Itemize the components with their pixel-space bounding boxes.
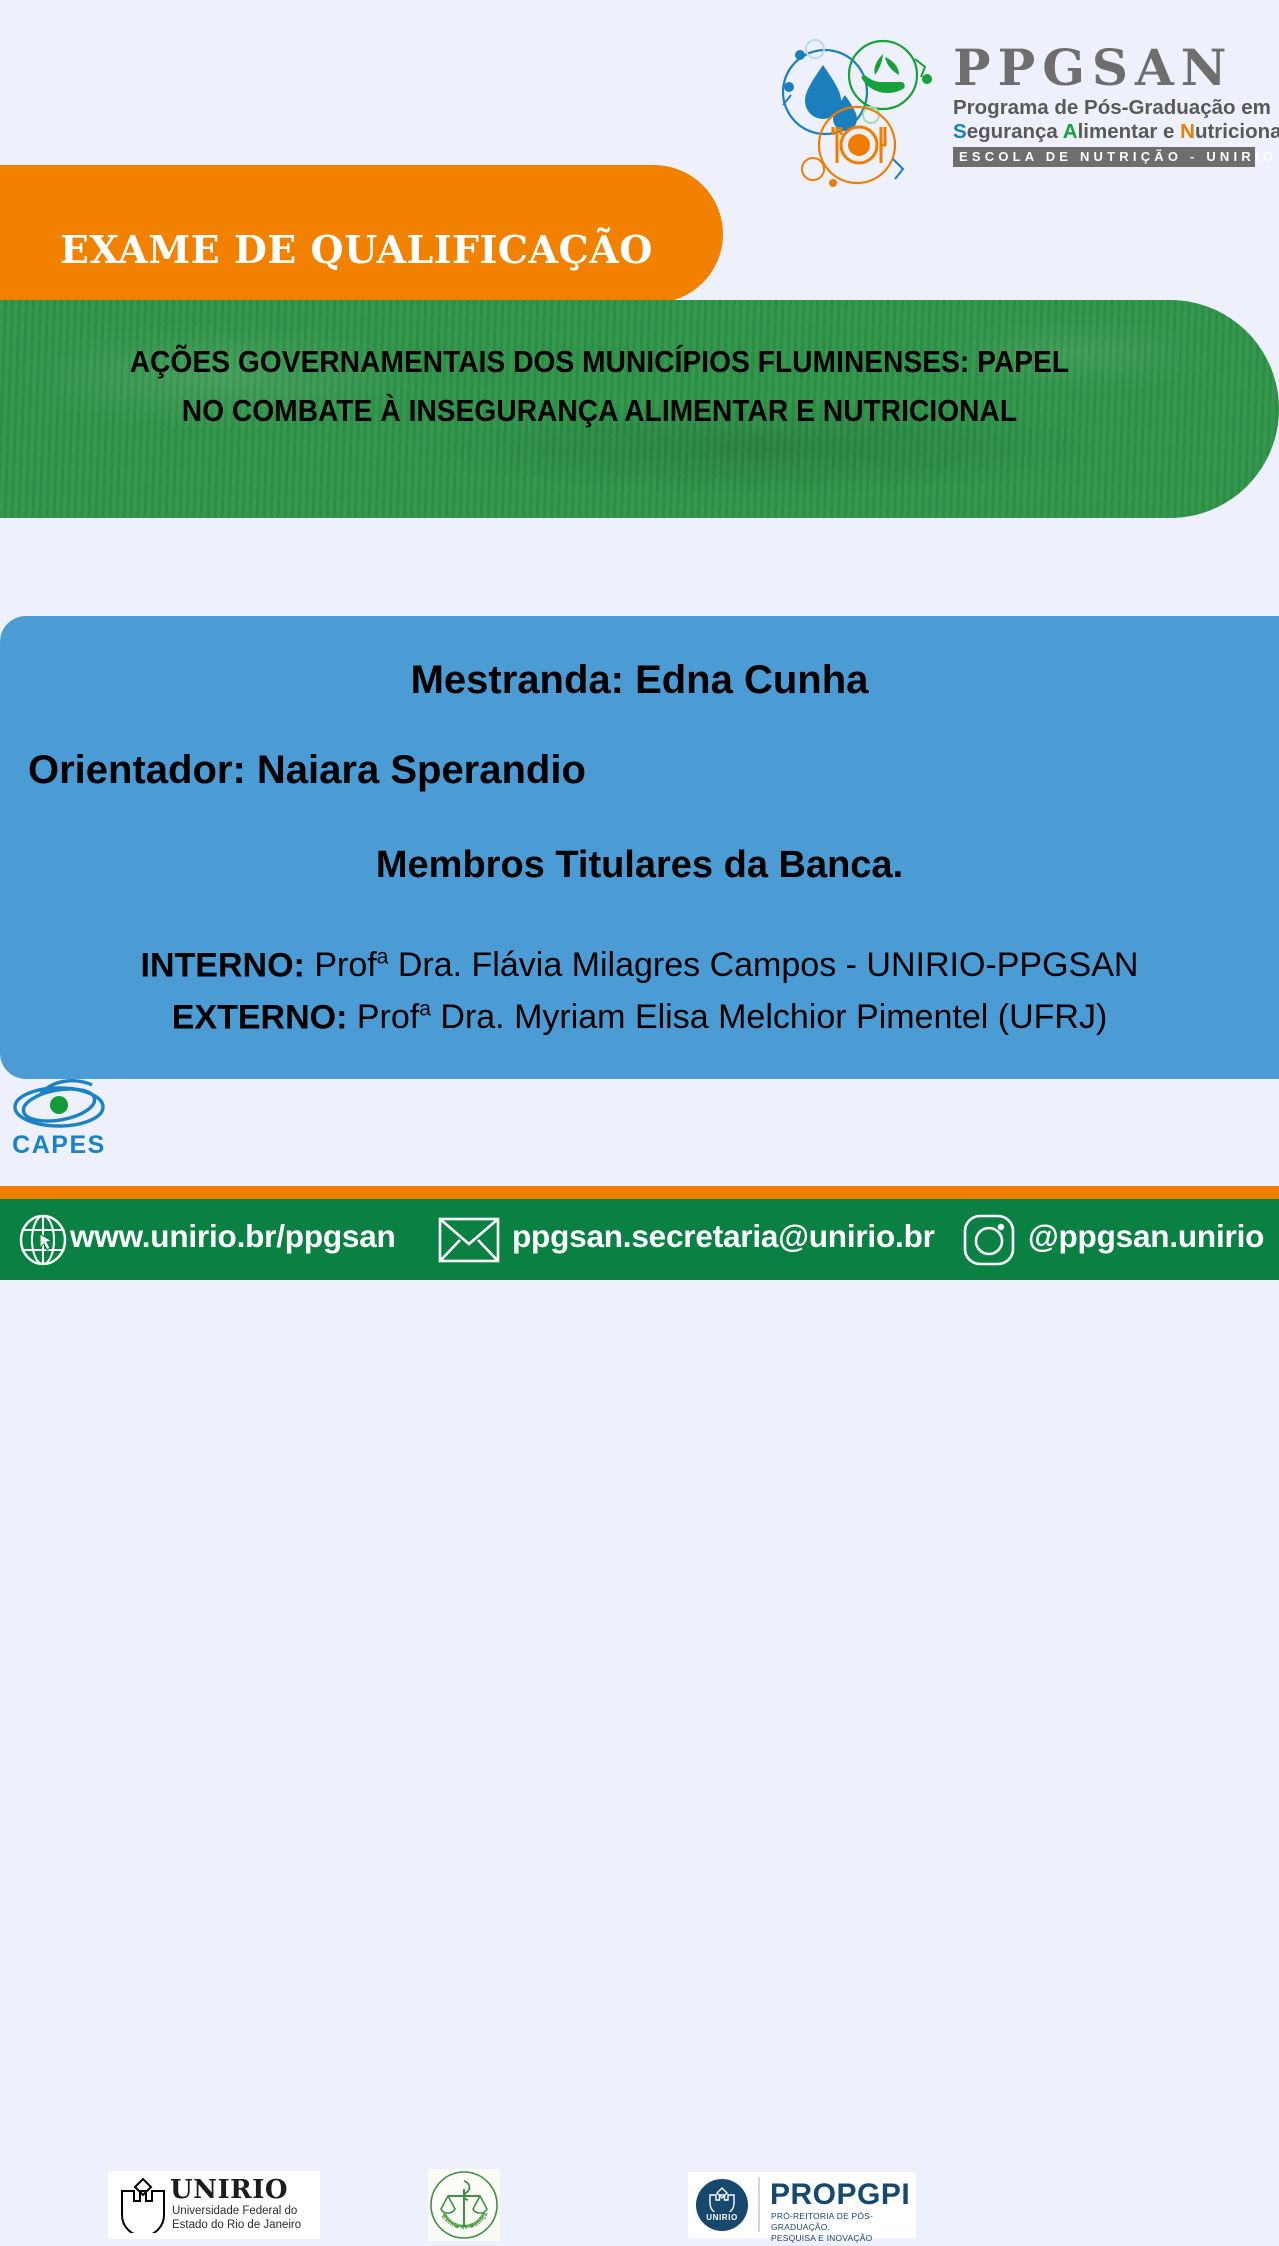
student-line: Mestranda: Edna Cunha [0,658,1279,703]
sponsor-logo-strip: UNIRIO Universidade Federal do Estado do… [0,1079,1279,1185]
event-info-row: 05/12/2025 09:00h Link: https://meet.goo… [0,520,1279,620]
committee-name-external: Profa Dra. Myriam Elisa Melchior Pimente… [357,998,1107,1036]
propgpi-unirio-badge: UNIRIO [696,2179,748,2231]
ppgsan-logo-mark [775,37,945,187]
capes-name: CAPES [0,1131,118,1160]
footer-email[interactable]: ppgsan.secretaria@unirio.br [512,1218,935,1255]
footer-website[interactable]: www.unirio.br/ppgsan [70,1218,396,1255]
ppgsan-acronym: PPGSAN [953,41,1255,95]
thesis-title: AÇÕES GOVERNAMENTAIS DOS MUNICÍPIOS FLUM… [48,338,1151,436]
capes-logo: CAPES [0,1079,118,1161]
propgpi-subtitle-line1: PRÓ-REITORIA DE PÓS-GRADUAÇÃO, [771,2211,916,2233]
propgpi-logo: UNIRIO PROPGPI PRÓ-REITORIA DE PÓS-GRADU… [688,2172,916,2238]
instagram-icon [962,1214,1016,1266]
thesis-title-line2: NO COMBATE À INSEGURANÇA ALIMENTAR E NUT… [48,387,1151,436]
footer-instagram[interactable]: @ppgsan.unirio [1028,1218,1264,1255]
propgpi-subtitle-line2: PESQUISA E INOVAÇÃO [771,2233,916,2244]
propgpi-name: PROPGPI [770,2178,910,2212]
participants-panel: Mestranda: Edna Cunha Orientador: Naiara… [0,616,1279,1079]
advisor-line: Orientador: Naiara Sperandio [28,748,586,793]
envelope-icon [438,1214,500,1266]
capes-swirl-icon [0,1079,118,1131]
unirio-logo: UNIRIO Universidade Federal do Estado do… [108,2171,320,2239]
committee-name-internal: Profa Dra. Flávia Milagres Campos - UNIR… [314,946,1138,984]
committee-member-external: EXTERNO: Profa Dra. Myriam Elisa Melchio… [0,998,1279,1037]
propgpi-divider [758,2177,760,2232]
ppgsan-wordmark: PPGSAN Programa de Pós-Graduação em Segu… [953,41,1255,167]
ppgsan-header-logo: PPGSAN Programa de Pós-Graduação em Segu… [775,35,1255,195]
committee-role-external: EXTERNO: [172,998,348,1036]
exam-type-banner: EXAME DE QUALIFICAÇÃO [0,165,723,303]
unirio-name: UNIRIO [170,2175,288,2205]
ppgsan-school-bar: ESCOLA DE NUTRIÇÃO - UNIRIO [953,147,1255,167]
unirio-subtitle-line1: Universidade Federal do [172,2204,301,2218]
unirio-subtitle-line2: Estado do Rio de Janeiro [172,2218,301,2232]
globe-icon [18,1214,68,1266]
propgpi-badge-label: UNIRIO [696,2213,748,2222]
committee-heading: Membros Titulares da Banca. [0,844,1279,887]
ppgsan-subtitle-line2: Segurança Alimentar e Nutricional [953,120,1255,144]
unirio-subtitle: Universidade Federal do Estado do Rio de… [172,2204,301,2232]
thesis-title-line1: AÇÕES GOVERNAMENTAIS DOS MUNICÍPIOS FLUM… [48,338,1151,387]
escola-nutricao-logo: Escola de Nutrição da Unirio [428,2169,500,2241]
exam-type-label: EXAME DE QUALIFICAÇÃO [60,227,653,272]
footer-orange-stripe [0,1186,1279,1199]
committee-member-internal: INTERNO: Profa Dra. Flávia Milagres Camp… [0,946,1279,985]
propgpi-subtitle: PRÓ-REITORIA DE PÓS-GRADUAÇÃO, PESQUISA … [771,2211,916,2244]
committee-role-internal: INTERNO: [141,946,305,984]
ppgsan-subtitle-line1: Programa de Pós-Graduação em [953,96,1255,120]
unirio-symbol-icon [118,2177,168,2233]
thesis-title-banner: AÇÕES GOVERNAMENTAIS DOS MUNICÍPIOS FLUM… [0,300,1279,518]
